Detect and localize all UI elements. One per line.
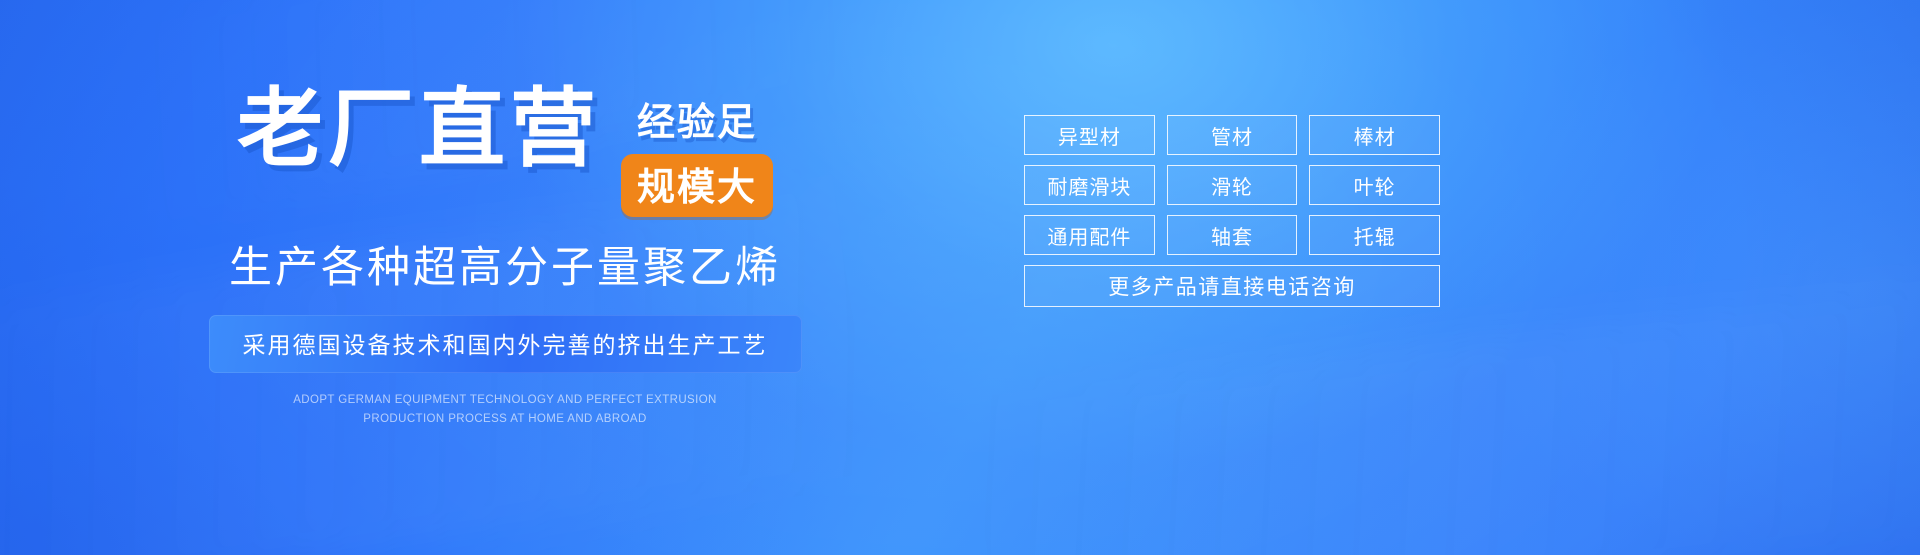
hero-english-line-2: PRODUCTION PROCESS AT HOME AND ABROAD [0,410,1010,429]
category-grid: 异型材 管材 棒材 耐磨滑块 滑轮 叶轮 通用配件 轴套 托辊 [1024,115,1440,255]
category-button-yixingcai[interactable]: 异型材 [1024,115,1155,155]
background-sheen-right [968,264,1920,555]
headline-side-text: 经验足 [637,91,757,146]
category-button-bangcai[interactable]: 棒材 [1309,115,1440,155]
category-button-hualun[interactable]: 滑轮 [1167,165,1298,205]
contact-cta-button[interactable]: 更多产品请直接电话咨询 [1024,265,1440,307]
hero-english-line-1: ADOPT GERMAN EQUIPMENT TECHNOLOGY AND PE… [0,391,1010,410]
category-button-tuogun[interactable]: 托辊 [1309,215,1440,255]
category-panel: 异型材 管材 棒材 耐磨滑块 滑轮 叶轮 通用配件 轴套 托辊 更多产品请直接电… [1024,115,1440,307]
category-button-yelun[interactable]: 叶轮 [1309,165,1440,205]
category-button-naimohuakuai[interactable]: 耐磨滑块 [1024,165,1155,205]
category-button-guancai[interactable]: 管材 [1167,115,1298,155]
hero-subtitle: 生产各种超高分子量聚乙烯 [0,233,1010,295]
hero-highlight-pill: 采用德国设备技术和国内外完善的挤出生产工艺 [209,315,802,373]
hero-english-caption: ADOPT GERMAN EQUIPMENT TECHNOLOGY AND PE… [0,391,1010,429]
headline-side-badge: 规模大 [621,154,773,217]
category-button-tongyongpeijian[interactable]: 通用配件 [1024,215,1155,255]
headline-side-group: 经验足 规模大 [621,86,773,217]
headline-main: 老厂直营 [237,86,601,174]
category-button-zhoutao[interactable]: 轴套 [1167,215,1298,255]
promo-banner: 老厂直营 经验足 规模大 生产各种超高分子量聚乙烯 采用德国设备技术和国内外完善… [0,0,1920,555]
hero-text-block: 老厂直营 经验足 规模大 生产各种超高分子量聚乙烯 采用德国设备技术和国内外完善… [0,86,1010,429]
headline-row: 老厂直营 经验足 规模大 [0,86,1010,217]
